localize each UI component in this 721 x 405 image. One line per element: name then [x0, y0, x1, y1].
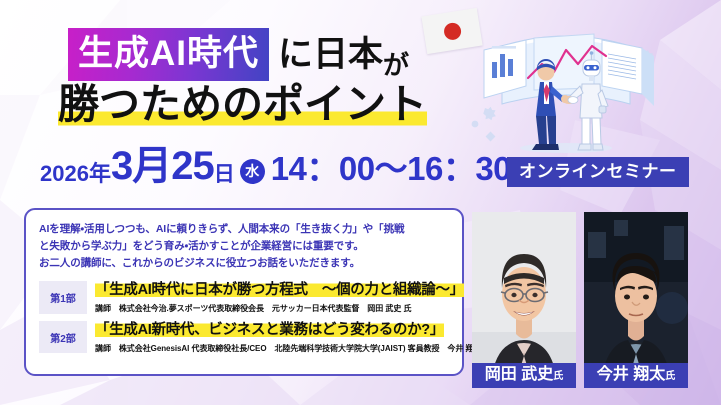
- details-card: AIを理解・活用しつつも、AIに頼りきらず、人間本来の「生き抜く力」や「挑戦 と…: [24, 208, 464, 376]
- schedule-month: 3月: [111, 148, 171, 185]
- headline-line-1-particle: が: [383, 52, 409, 81]
- session-2-speaker: 講師 株式会社GenesisAI 代表取締役社長/CEO 北陸先端科学技術大学院…: [95, 344, 449, 354]
- session-2-title: 「生成AI新時代、ビジネスと業務はどう変わるのか?」: [95, 322, 444, 338]
- headline-block: 生成AI時代 に日本 が 勝つためのポイント: [0, 12, 470, 137]
- seminar-banner: 生成AI時代 に日本 が 勝つためのポイント: [0, 0, 721, 405]
- speaker-1-name-label: 岡田 武史氏: [472, 363, 576, 388]
- lead-line-3: お二人の講師に、これからのビジネスに役立つお話をいただきます。: [39, 255, 449, 272]
- speaker-1-suffix: 氏: [553, 371, 563, 382]
- schedule-day: 25: [171, 148, 214, 185]
- schedule-day-unit: 日: [214, 164, 235, 185]
- session-row-1: 第1部 「生成AI時代に日本が勝つ方程式 〜個の力と組織論〜」 講師 株式会社今…: [39, 281, 449, 314]
- speaker-portrait-okada: [472, 212, 576, 388]
- session-2-body: 「生成AI新時代、ビジネスと業務はどう変わるのか?」 講師 株式会社Genesi…: [87, 321, 449, 354]
- speaker-card-1: 岡田 武史氏: [472, 212, 576, 388]
- schedule-row: 2026年 3月 25 日 水 14：00〜16：30: [40, 148, 511, 185]
- speaker-2-name-label: 今井 翔太氏: [584, 363, 688, 388]
- session-row-2: 第2部 「生成AI新時代、ビジネスと業務はどう変わるのか?」 講師 株式会社Ge…: [39, 321, 449, 354]
- headline-line-2: 勝つためのポイント: [58, 84, 427, 125]
- lead-line-1: AIを理解・活用しつつも、AIに頼りきらず、人間本来の「生き抜く力」や「挑戦: [39, 221, 449, 238]
- headline-chip-generative-ai-era: 生成AI時代: [68, 28, 269, 81]
- session-1-body: 「生成AI時代に日本が勝つ方程式 〜個の力と組織論〜」 講師 株式会社今治.夢ス…: [87, 281, 449, 314]
- session-2-badge: 第2部: [39, 321, 87, 354]
- lead-paragraph: AIを理解・活用しつつも、AIに頼りきらず、人間本来の「生き抜く力」や「挑戦 と…: [39, 221, 449, 272]
- speaker-1-name: 岡田 武史: [485, 366, 553, 383]
- schedule-year: 2026年: [40, 163, 111, 185]
- headline-line-1-mid: に日本: [278, 37, 383, 72]
- session-1-badge: 第1部: [39, 281, 87, 314]
- headline-line-2-text: 勝つためのポイント: [58, 81, 427, 127]
- lead-line-2: と失敗から学ぶ力」をどう育み・活かすことが企業経営には重要です。: [39, 238, 449, 255]
- speaker-card-2: 今井 翔太氏: [584, 212, 688, 388]
- schedule-weekday: 水: [240, 159, 265, 184]
- online-seminar-badge: オンラインセミナー: [507, 157, 689, 187]
- speaker-photos: 岡田 武史氏: [472, 212, 712, 392]
- speaker-portrait-imai: [584, 212, 688, 388]
- session-1-title: 「生成AI時代に日本が勝つ方程式 〜個の力と組織論〜」: [95, 282, 464, 298]
- schedule-time: 14：00〜16：30: [271, 153, 511, 184]
- speaker-2-suffix: 氏: [665, 371, 675, 382]
- speaker-2-name: 今井 翔太: [597, 366, 665, 383]
- headline-line-1: 生成AI時代 に日本 が: [68, 28, 409, 81]
- session-1-speaker: 講師 株式会社今治.夢スポーツ代表取締役会長 元サッカー日本代表監督 岡田 武史…: [95, 304, 449, 314]
